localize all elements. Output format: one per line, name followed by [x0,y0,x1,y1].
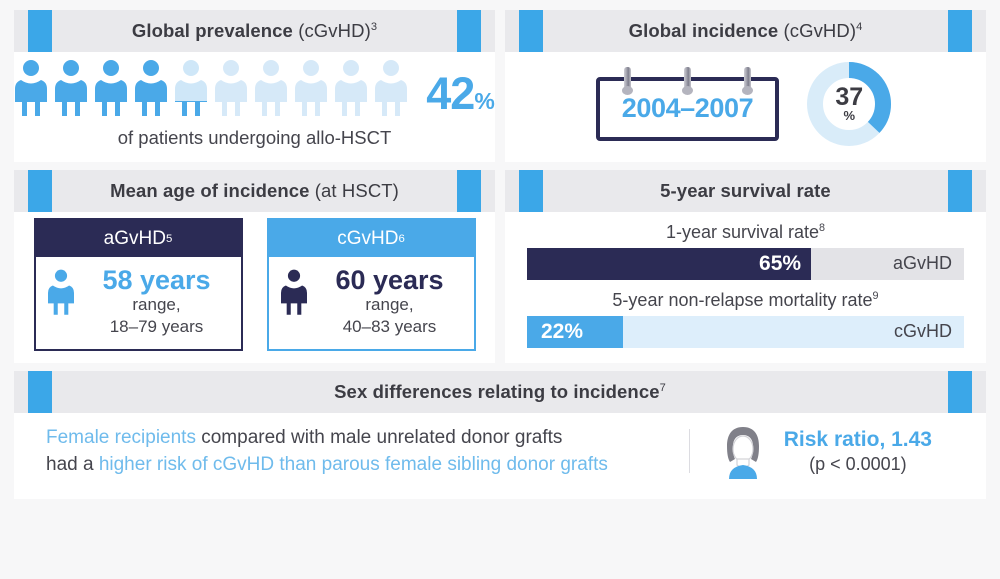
age-box-agvhd: aGvHD5 58 years range, 18–79 years [34,218,243,351]
card-title: Sex differences relating to incidence7 [334,381,666,403]
accent-bar-left [28,170,52,212]
statement-line-1-highlight: Female recipients [46,427,196,448]
bar-label-2-superscript: 9 [873,290,879,302]
age-box-body: 58 years range, 18–79 years [36,257,241,349]
donut-center-label: 37 % [825,80,873,128]
bar-category-cgvhd: cGvHD [894,316,952,348]
card-survival-rate: 5-year survival rate 1-year survival rat… [505,170,986,363]
statement-line-1: Female recipients compared with male unr… [46,424,675,452]
age-box-header: cGvHD6 [269,220,474,257]
card-header-global-incidence: Global incidence (cGvHD)4 [505,10,986,52]
bar-label-1: 1-year survival rate8 [527,222,964,243]
card-title-bold: Sex differences relating to incidence [334,381,660,402]
sex-differences-statement: Female recipients compared with male unr… [46,424,675,479]
bar-label-1-superscript: 8 [819,222,825,234]
person-icon-filled [15,60,47,116]
prevalence-unit: % [474,88,493,114]
card-header-sex-differences: Sex differences relating to incidence7 [14,371,986,413]
card-global-prevalence: Global prevalence (cGvHD)3 [14,10,495,162]
card-title: Mean age of incidence (at HSCT) [110,180,399,202]
person-icon-partial [175,60,207,116]
calendar-rings [596,67,780,93]
donut-unit: % [843,109,855,122]
card-title-superscript: 4 [856,21,862,33]
card-header-mean-age: Mean age of incidence (at HSCT) [14,170,495,212]
age-range-label: range, [83,295,231,315]
calendar-ring [684,67,691,93]
statement-line-2-highlight: higher risk of cGvHD than parous female … [99,454,608,475]
bar-fill-cgvhd: 22% [527,316,623,348]
card-body-sex-differences: Female recipients compared with male unr… [14,413,986,499]
pictogram-row: 42% [15,60,494,116]
female-avatar-icon [716,423,770,479]
card-title-rest: (at HSCT) [310,180,399,201]
card-header-global-prevalence: Global prevalence (cGvHD)3 [14,10,495,52]
prevalence-number: 42 [426,68,474,119]
card-title: Global incidence (cGvHD)4 [629,20,863,42]
statement-line-1-rest: compared with male unrelated donor graft… [196,427,562,448]
age-range-value: 18–79 years [83,317,231,337]
accent-bar-right [948,371,972,413]
card-title: Global prevalence (cGvHD)3 [132,20,377,42]
bar-value-cgvhd: 22% [541,320,583,344]
card-title-bold: 5-year survival rate [660,180,831,201]
age-box-header-label: aGvHD [104,228,166,250]
risk-ratio-group: Risk ratio, 1.43 (p < 0.0001) [716,423,954,479]
card-title-superscript: 7 [660,382,666,394]
card-title-rest: (cGvHD) [293,20,371,41]
age-value: 60 years [316,266,464,294]
person-icon-group [15,60,407,116]
card-grid: Global prevalence (cGvHD)3 [14,10,986,499]
person-icon-empty [295,60,327,116]
accent-bar-right [457,10,481,52]
accent-bar-left [519,10,543,52]
prevalence-caption: of patients undergoing allo-HSCT [118,127,392,149]
incidence-row: 2004–2007 37 % [596,58,896,150]
bar-track-cgvhd: 22% cGvHD [527,316,964,348]
accent-bar-left [28,371,52,413]
card-header-survival-rate: 5-year survival rate [505,170,986,212]
donut-chart-incidence: 37 % [803,58,895,150]
card-title-bold: Mean age of incidence [110,180,309,201]
card-body-global-prevalence: 42% of patients undergoing allo-HSCT [14,52,495,162]
card-sex-differences: Sex differences relating to incidence7 F… [14,371,986,499]
person-icon-filled [55,60,87,116]
calendar-years: 2004–2007 [622,93,754,124]
age-box-header: aGvHD5 [36,220,241,257]
age-box-header-label: cGvHD [337,228,398,250]
person-icon-empty [215,60,247,116]
risk-ratio-pvalue: (p < 0.0001) [784,454,932,475]
prevalence-value: 42% [426,71,494,116]
vertical-divider [689,429,690,473]
bar-label-2: 5-year non-relapse mortality rate9 [527,290,964,311]
accent-bar-right [948,10,972,52]
age-box-text: 60 years range, 40–83 years [316,266,464,337]
age-range-label: range, [316,295,464,315]
age-box-body: 60 years range, 40–83 years [269,257,474,349]
age-value: 58 years [83,266,231,294]
age-box-cgvhd: cGvHD6 60 years range, 40–83 years [267,218,476,351]
infographic-page: Global prevalence (cGvHD)3 [0,0,1000,579]
risk-ratio-text: Risk ratio, 1.43 (p < 0.0001) [784,428,932,475]
person-icon-empty [255,60,287,116]
age-range-value: 40–83 years [316,317,464,337]
bar-fill-agvhd: 65% [527,248,811,280]
bar-label-1-text: 1-year survival rate [666,222,819,242]
card-body-survival-rate: 1-year survival rate8 65% aGvHD 5-year n… [505,212,986,363]
person-icon [281,266,307,318]
age-box-text: 58 years range, 18–79 years [83,266,231,337]
risk-ratio-value: Risk ratio, 1.43 [784,428,932,452]
card-body-global-incidence: 2004–2007 37 % [505,52,986,162]
person-icon-empty [375,60,407,116]
person-icon-empty [335,60,367,116]
person-icon-filled [95,60,127,116]
survival-bar-chart: 1-year survival rate8 65% aGvHD 5-year n… [519,222,972,348]
accent-bar-left [519,170,543,212]
statement-line-2-rest: had a [46,454,99,475]
calendar-ring [744,67,751,93]
person-icon [48,266,74,318]
donut-value: 37 [835,86,863,110]
age-box-row: aGvHD5 58 years range, 18–79 years cGvHD… [34,218,476,351]
statement-line-2: had a higher risk of cGvHD than parous f… [46,451,675,479]
card-mean-age: Mean age of incidence (at HSCT) aGvHD5 5… [14,170,495,363]
card-title-rest: (cGvHD) [778,20,856,41]
person-icon-filled [135,60,167,116]
card-title-superscript: 3 [371,21,377,33]
bar-value-agvhd: 65% [759,252,801,276]
accent-bar-right [457,170,481,212]
accent-bar-right [948,170,972,212]
calendar-ring [624,67,631,93]
sex-differences-row: Female recipients compared with male unr… [28,419,972,487]
card-title-bold: Global prevalence [132,20,293,41]
bar-category-agvhd: aGvHD [893,248,952,280]
card-title-bold: Global incidence [629,20,779,41]
bar-label-2-text: 5-year non-relapse mortality rate [612,290,872,310]
card-global-incidence: Global incidence (cGvHD)4 2004–2007 [505,10,986,162]
calendar-icon: 2004–2007 [596,67,780,141]
card-title: 5-year survival rate [660,180,831,202]
card-body-mean-age: aGvHD5 58 years range, 18–79 years cGvHD… [14,212,495,363]
accent-bar-left [28,10,52,52]
bar-track-agvhd: 65% aGvHD [527,248,964,280]
